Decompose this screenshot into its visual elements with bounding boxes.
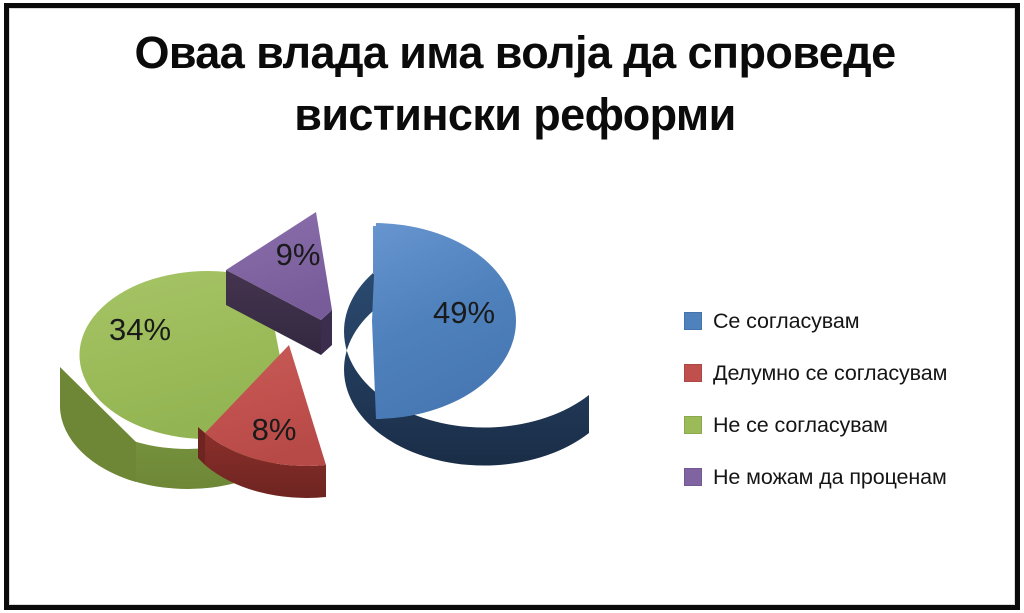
legend-swatch-icon-3 bbox=[684, 468, 702, 486]
pie-slice-blue[interactable]: 49% bbox=[344, 223, 589, 465]
legend-item-1[interactable]: Делумно се согласувам bbox=[684, 347, 1014, 399]
slice-label-blue: 49% bbox=[433, 295, 495, 330]
legend-item-2[interactable]: Не се согласувам bbox=[684, 399, 1014, 451]
slide-canvas: Оваа влада има волја да спроведе вистинс… bbox=[0, 0, 1024, 613]
legend-swatch-icon-0 bbox=[684, 312, 702, 330]
legend-item-3[interactable]: Не можам да проценам bbox=[684, 451, 1014, 503]
slice-label-red: 8% bbox=[252, 412, 297, 447]
legend-swatch-icon-2 bbox=[684, 416, 702, 434]
chart-title-line-1: Оваа влада има волја да спроведе bbox=[134, 27, 895, 78]
chart-plot-area: 34% 9% 8% bbox=[0, 150, 1024, 570]
legend-label-1: Делумно се согласувам bbox=[713, 361, 947, 386]
chart-title: Оваа влада има волја да спроведе вистинс… bbox=[60, 22, 970, 146]
legend-label-2: Не се согласувам bbox=[713, 413, 888, 438]
pie-chart-3d: 34% 9% 8% bbox=[40, 195, 660, 525]
legend-label-3: Не можам да проценам bbox=[713, 465, 947, 490]
slice-label-green: 34% bbox=[109, 312, 171, 347]
chart-title-line-2: вистински реформи bbox=[294, 89, 735, 140]
legend-swatch-icon-1 bbox=[684, 364, 702, 382]
legend-label-0: Се согласувам bbox=[713, 309, 859, 334]
chart-legend: Се согласувам Делумно се согласувам Не с… bbox=[684, 295, 1014, 503]
slice-label-purple: 9% bbox=[276, 237, 321, 272]
legend-item-0[interactable]: Се согласувам bbox=[684, 295, 1014, 347]
